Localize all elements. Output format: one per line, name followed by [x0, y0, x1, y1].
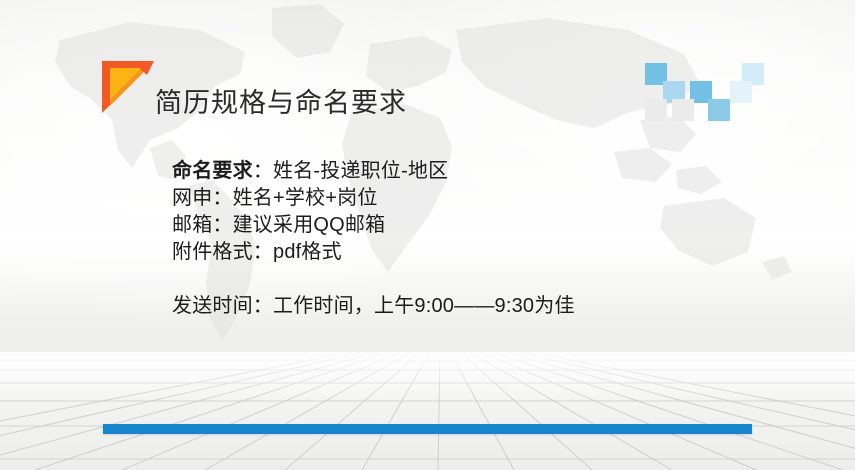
body-line-send-time: 发送时间：工作时间，上午9:00——9:30为佳: [172, 293, 812, 320]
body-spacer: [172, 266, 812, 293]
presentation-slide: 简历规格与命名要求 命名要求：姓名-投递职位-地区 网申：姓名+学校+岗位 邮箱…: [0, 0, 855, 470]
bottom-accent-bar: [103, 424, 752, 434]
body-line-naming-lead: 命名要求: [172, 160, 253, 182]
perspective-floor-grid: [0, 352, 855, 470]
orange-triangle-logo-icon: [98, 57, 158, 117]
mosaic-tile: [730, 81, 752, 103]
mosaic-tile: [708, 99, 730, 121]
body-line-email: 邮箱：建议采用QQ邮箱: [172, 212, 812, 239]
body-line-naming-rest: ：姓名-投递职位-地区: [253, 160, 449, 182]
page-title: 简历规格与命名要求: [155, 88, 407, 119]
body-line-online-application: 网申：姓名+学校+岗位: [172, 185, 812, 212]
body-line-naming: 命名要求：姓名-投递职位-地区: [172, 158, 812, 185]
body-content: 命名要求：姓名-投递职位-地区 网申：姓名+学校+岗位 邮箱：建议采用QQ邮箱 …: [172, 158, 812, 320]
mosaic-tile: [672, 99, 694, 121]
blue-mosaic-squares: [636, 56, 756, 124]
body-line-attachment-format: 附件格式：pdf格式: [172, 239, 812, 266]
mosaic-tile: [645, 99, 667, 121]
